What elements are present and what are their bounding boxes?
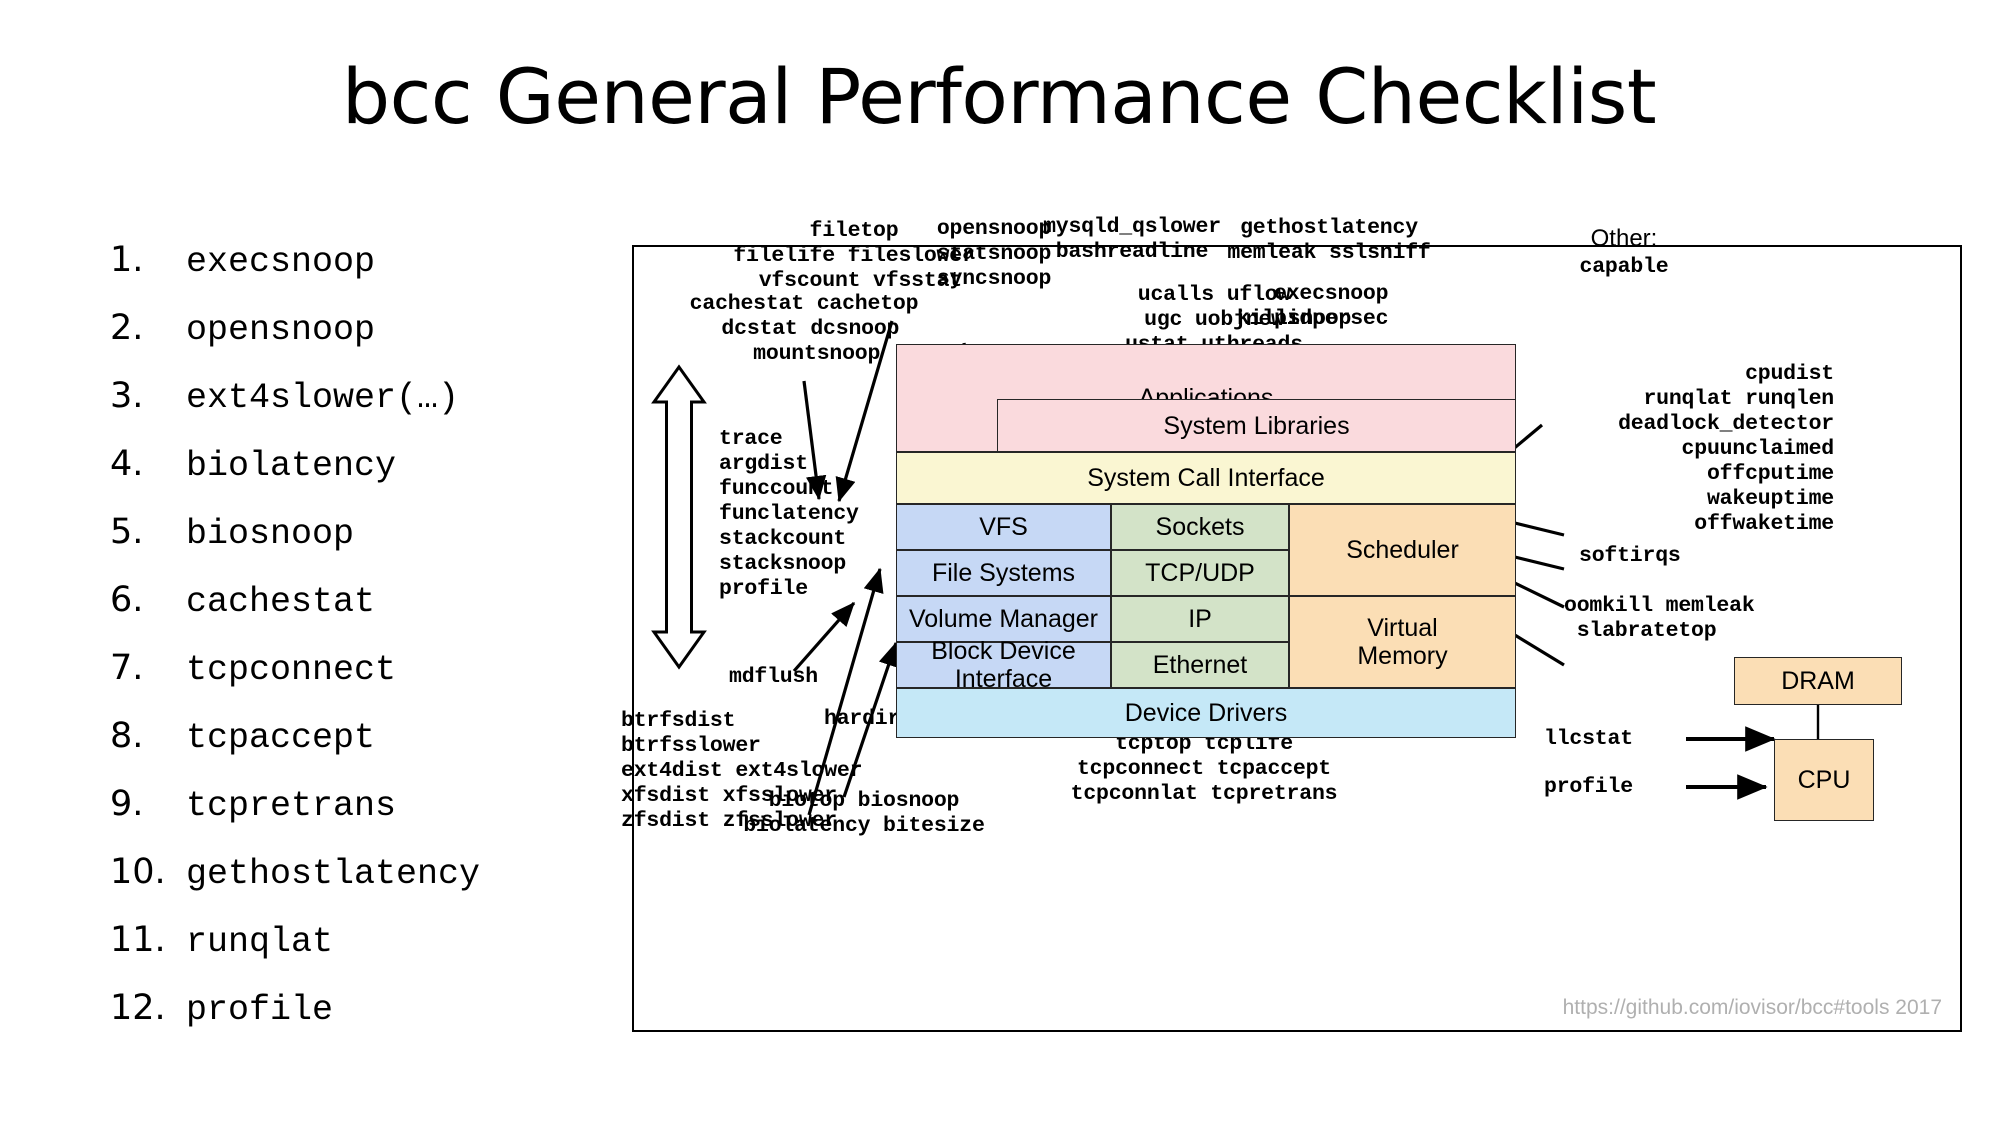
- stack-box-ethernet: Ethernet: [1111, 642, 1289, 688]
- stack-box-block-device-interface: Block Device Interface: [896, 642, 1111, 688]
- list-item: 2. opensnoop: [110, 308, 530, 376]
- list-item: 6. cachestat: [110, 580, 530, 648]
- list-item-tool: biolatency: [186, 446, 396, 486]
- list-item-tool: execsnoop: [186, 242, 375, 282]
- stack-box-volume-manager: Volume Manager: [896, 596, 1111, 642]
- annotation-other-label: Other:: [1524, 225, 1724, 253]
- page-title: bcc General Performance Checklist: [0, 52, 1998, 141]
- list-item-number: 11.: [110, 920, 186, 960]
- annotation-execsnoop: execsnoop pidpersec: [1274, 282, 1514, 332]
- list-item-tool: gethostlatency: [186, 854, 480, 894]
- stack-label-virtual-memory: Virtual Memory: [1357, 614, 1447, 670]
- stack-box-file-systems: File Systems: [896, 550, 1111, 596]
- stack-label-system-call-interface: System Call Interface: [1087, 464, 1325, 492]
- stack-box-scheduler: Scheduler: [1289, 504, 1516, 596]
- list-item-tool: profile: [186, 990, 333, 1030]
- list-item-number: 8.: [110, 716, 186, 756]
- stack-label-vfs: VFS: [979, 513, 1028, 541]
- stack-box-ip: IP: [1111, 596, 1289, 642]
- list-item-tool: tcpaccept: [186, 718, 375, 758]
- stack-box-system-call-interface: System Call Interface: [896, 452, 1516, 504]
- stack-label-file-systems: File Systems: [932, 559, 1075, 587]
- list-item-tool: runqlat: [186, 922, 333, 962]
- list-item: 3. ext4slower(…): [110, 376, 530, 444]
- list-item-tool: tcpretrans: [186, 786, 396, 826]
- stack-label-system-libraries: System Libraries: [1163, 412, 1349, 440]
- list-item-tool: ext4slower(…): [186, 378, 459, 418]
- annotation-tcptop: tcptop tcplife tcpconnect tcpaccept tcpc…: [1014, 732, 1394, 807]
- hardware-label-cpu: CPU: [1798, 766, 1851, 794]
- list-item: 11. runqlat: [110, 920, 530, 988]
- stack-box-vfs: VFS: [896, 504, 1111, 550]
- list-item-number: 10.: [110, 852, 186, 892]
- list-item: 1. execsnoop: [110, 240, 530, 308]
- stack-label-block-device-interface: Block Device Interface: [897, 637, 1110, 693]
- list-item: 10. gethostlatency: [110, 852, 530, 920]
- list-item-number: 9.: [110, 784, 186, 824]
- stack-box-device-drivers: Device Drivers: [896, 688, 1516, 738]
- stack-box-sockets: Sockets: [1111, 504, 1289, 550]
- annotation-profile: profile: [1544, 775, 1704, 800]
- stack-label-ethernet: Ethernet: [1153, 651, 1248, 679]
- list-item: 8. tcpaccept: [110, 716, 530, 784]
- list-item: 12. profile: [110, 988, 530, 1056]
- annotation-llcstat: llcstat: [1544, 727, 1704, 752]
- stack-box-virtual-memory: Virtual Memory: [1289, 596, 1516, 688]
- list-item-tool: cachestat: [186, 582, 375, 622]
- hardware-box-cpu: CPU: [1774, 739, 1874, 821]
- list-item-tool: opensnoop: [186, 310, 375, 350]
- list-item-tool: biosnoop: [186, 514, 354, 554]
- stack-label-sockets: Sockets: [1156, 513, 1245, 541]
- stack-label-ip: IP: [1188, 605, 1212, 633]
- stack-label-volume-manager: Volume Manager: [909, 605, 1098, 633]
- bcc-tools-diagram: filetop filelife fileslower vfscount vfs…: [632, 245, 1962, 1032]
- list-item-number: 3.: [110, 376, 186, 416]
- stack-label-device-drivers: Device Drivers: [1125, 699, 1288, 727]
- stack-label-scheduler: Scheduler: [1346, 536, 1459, 564]
- annotation-biotop: biotop biosnoop biolatency bitesize: [694, 789, 1034, 839]
- list-item: 5. biosnoop: [110, 512, 530, 580]
- hardware-box-dram: DRAM: [1734, 657, 1902, 705]
- list-item: 9. tcpretrans: [110, 784, 530, 852]
- annotation-softirqs: softirqs: [1579, 544, 1829, 569]
- stack-box-system-libraries: System Libraries: [997, 399, 1516, 452]
- stack-label-tcp-udp: TCP/UDP: [1145, 559, 1255, 587]
- tool-checklist: 1. execsnoop 2. opensnoop 3. ext4slower(…: [110, 240, 530, 1056]
- annotation-gethostlatency: gethostlatency memleak sslsniff: [1164, 216, 1494, 266]
- list-item: 7. tcpconnect: [110, 648, 530, 716]
- list-item-number: 5.: [110, 512, 186, 552]
- list-item-number: 7.: [110, 648, 186, 688]
- list-item-number: 2.: [110, 308, 186, 348]
- list-item-number: 12.: [110, 988, 186, 1028]
- list-item: 4. biolatency: [110, 444, 530, 512]
- scope-double-arrow: [654, 367, 704, 667]
- list-item-number: 4.: [110, 444, 186, 484]
- hardware-label-dram: DRAM: [1781, 667, 1855, 695]
- list-item-number: 6.: [110, 580, 186, 620]
- source-url-credit: https://github.com/iovisor/bcc#tools 201…: [1563, 996, 1942, 1020]
- list-item-number: 1.: [110, 240, 186, 280]
- list-item-tool: tcpconnect: [186, 650, 396, 690]
- stack-box-tcp-udp: TCP/UDP: [1111, 550, 1289, 596]
- annotation-other-tools: capable: [1524, 255, 1724, 280]
- annotation-oomkill: oomkill memleak slabratetop: [1564, 594, 1864, 644]
